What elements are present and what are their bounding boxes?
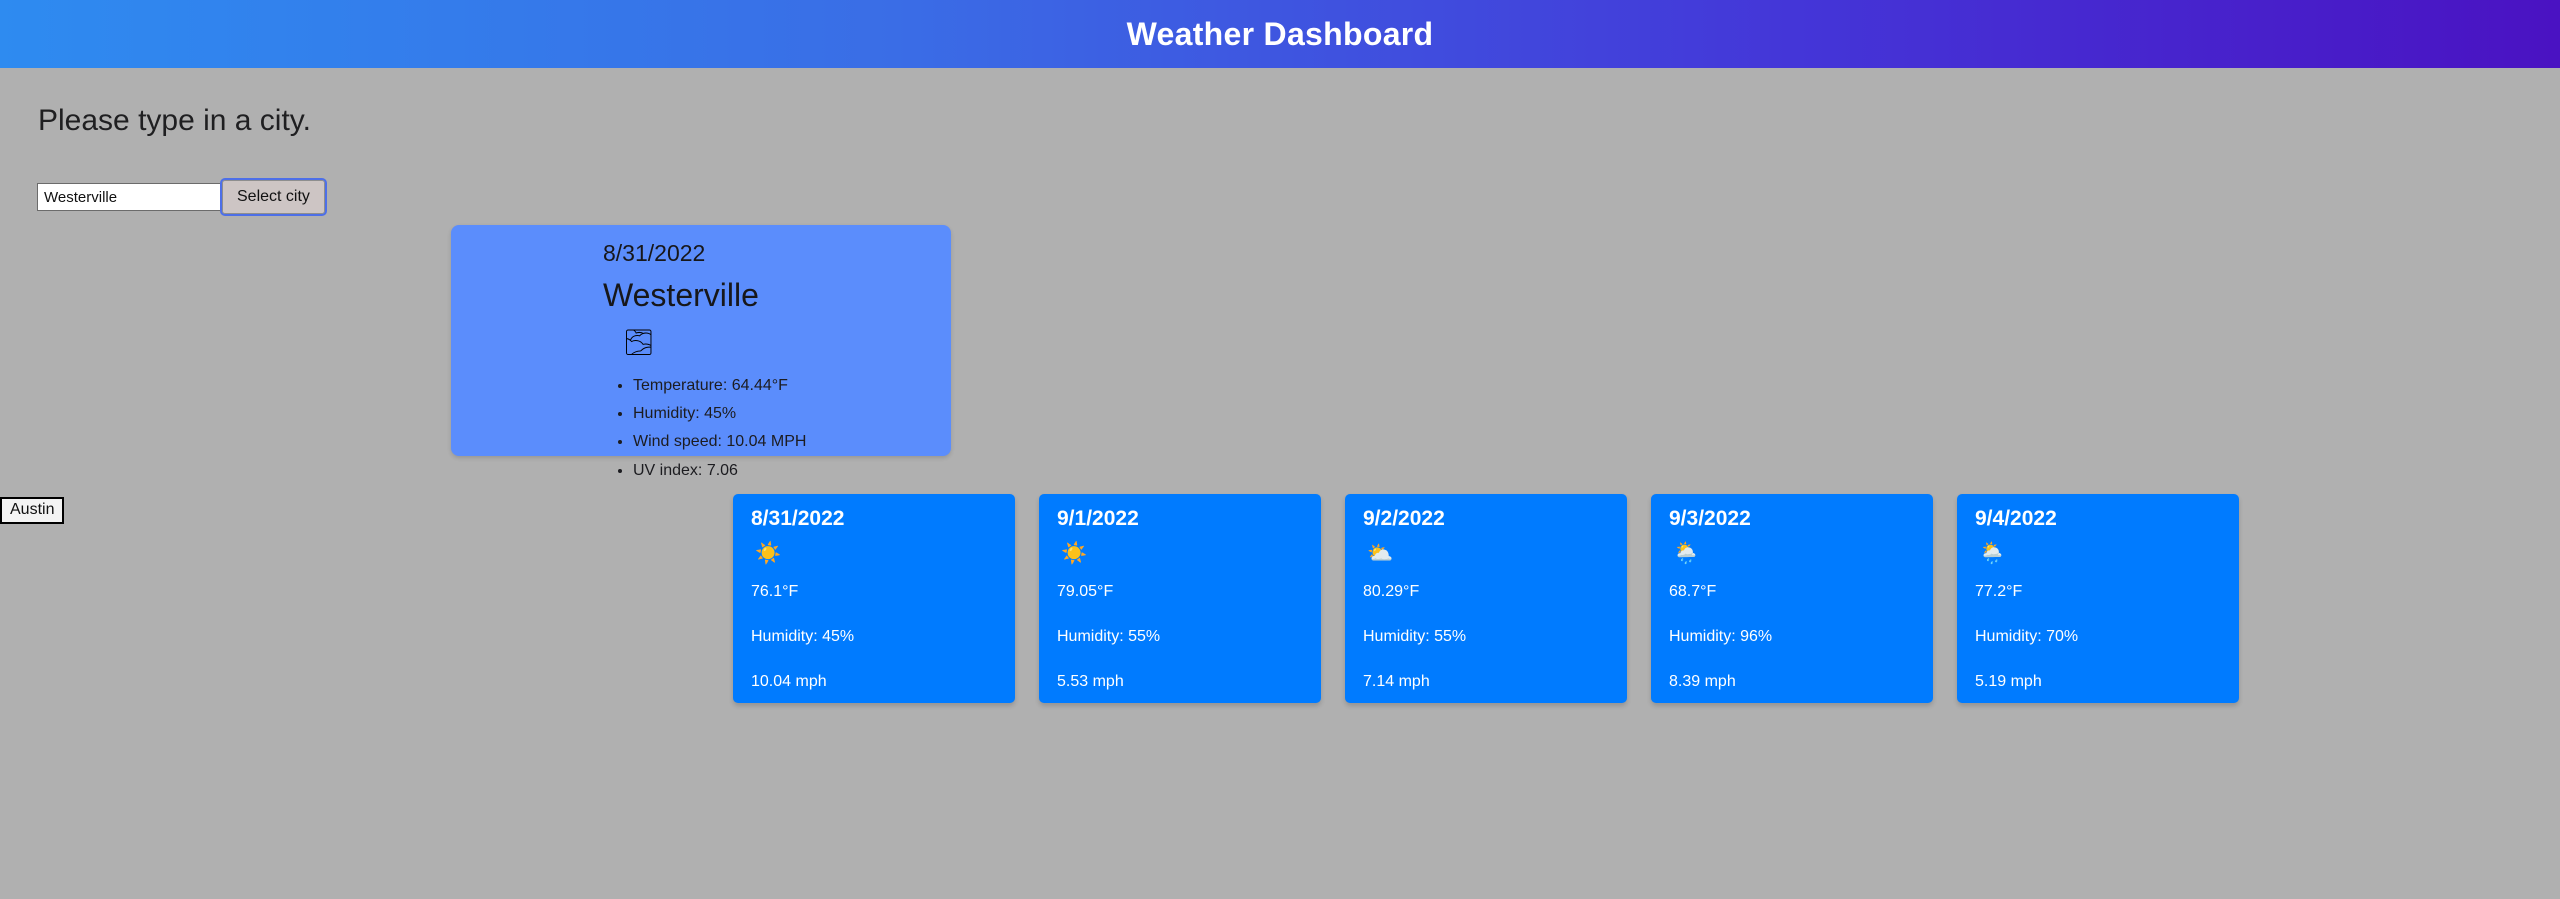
app-header: Weather Dashboard xyxy=(0,0,2560,68)
weather-icon-rain-sun: 🌦️ xyxy=(1673,543,1915,569)
forecast-temperature: 79.05°F xyxy=(1057,582,1303,603)
forecast-row: 8/31/2022 ☀️ 76.1°F Humidity: 45% 10.04 … xyxy=(733,494,2239,703)
forecast-humidity: Humidity: 55% xyxy=(1363,627,1609,648)
forecast-humidity: Humidity: 96% xyxy=(1669,627,1915,648)
forecast-temperature: 77.2°F xyxy=(1975,582,2221,603)
weather-icon-sun: ☀️ xyxy=(755,543,997,569)
current-stat-temperature: Temperature: 64.44°F xyxy=(633,372,951,400)
forecast-date: 8/31/2022 xyxy=(751,506,997,531)
current-stat-uv-index: UV index: 7.06 xyxy=(633,457,951,485)
current-city-name: Westerville xyxy=(603,277,951,315)
forecast-humidity: Humidity: 70% xyxy=(1975,627,2221,648)
forecast-date: 9/4/2022 xyxy=(1975,506,2221,531)
select-city-button[interactable]: Select city xyxy=(222,180,325,214)
current-stat-wind-speed: Wind speed: 10.04 MPH xyxy=(633,428,951,456)
current-date: 8/31/2022 xyxy=(603,239,951,268)
forecast-temperature: 68.7°F xyxy=(1669,582,1915,603)
forecast-date: 9/1/2022 xyxy=(1057,506,1303,531)
forecast-wind-speed: 10.04 mph xyxy=(751,672,997,693)
weather-icon-rain-sun: 🌦️ xyxy=(1979,543,2221,569)
forecast-temperature: 80.29°F xyxy=(1363,582,1609,603)
forecast-card: 9/2/2022 ⛅ 80.29°F Humidity: 55% 7.14 mp… xyxy=(1345,494,1627,703)
current-weather-stats: Temperature: 64.44°F Humidity: 45% Wind … xyxy=(603,372,951,486)
forecast-card: 8/31/2022 ☀️ 76.1°F Humidity: 45% 10.04 … xyxy=(733,494,1015,703)
history-item-austin[interactable]: Austin xyxy=(0,497,64,524)
search-heading: Please type in a city. xyxy=(38,103,311,139)
weather-icon-mist: 🌫 xyxy=(623,331,951,361)
forecast-card: 9/3/2022 🌦️ 68.7°F Humidity: 96% 8.39 mp… xyxy=(1651,494,1933,703)
page-title: Weather Dashboard xyxy=(1127,18,1434,50)
forecast-humidity: Humidity: 45% xyxy=(751,627,997,648)
current-weather-content: 8/31/2022 Westerville 🌫 Temperature: 64.… xyxy=(451,239,951,485)
forecast-date: 9/2/2022 xyxy=(1363,506,1609,531)
forecast-card: 9/4/2022 🌦️ 77.2°F Humidity: 70% 5.19 mp… xyxy=(1957,494,2239,703)
weather-icon-sun: ☀️ xyxy=(1061,543,1303,569)
weather-icon-clouds: ⛅ xyxy=(1367,543,1609,569)
forecast-wind-speed: 5.19 mph xyxy=(1975,672,2221,693)
forecast-wind-speed: 8.39 mph xyxy=(1669,672,1915,693)
current-stat-humidity: Humidity: 45% xyxy=(633,400,951,428)
current-weather-card: 8/31/2022 Westerville 🌫 Temperature: 64.… xyxy=(451,225,951,456)
search-input[interactable] xyxy=(37,183,223,211)
forecast-date: 9/3/2022 xyxy=(1669,506,1915,531)
forecast-humidity: Humidity: 55% xyxy=(1057,627,1303,648)
search-form: Select city xyxy=(37,180,325,214)
forecast-temperature: 76.1°F xyxy=(751,582,997,603)
search-history-list: Austin xyxy=(0,497,64,524)
forecast-wind-speed: 7.14 mph xyxy=(1363,672,1609,693)
forecast-card: 9/1/2022 ☀️ 79.05°F Humidity: 55% 5.53 m… xyxy=(1039,494,1321,703)
forecast-wind-speed: 5.53 mph xyxy=(1057,672,1303,693)
